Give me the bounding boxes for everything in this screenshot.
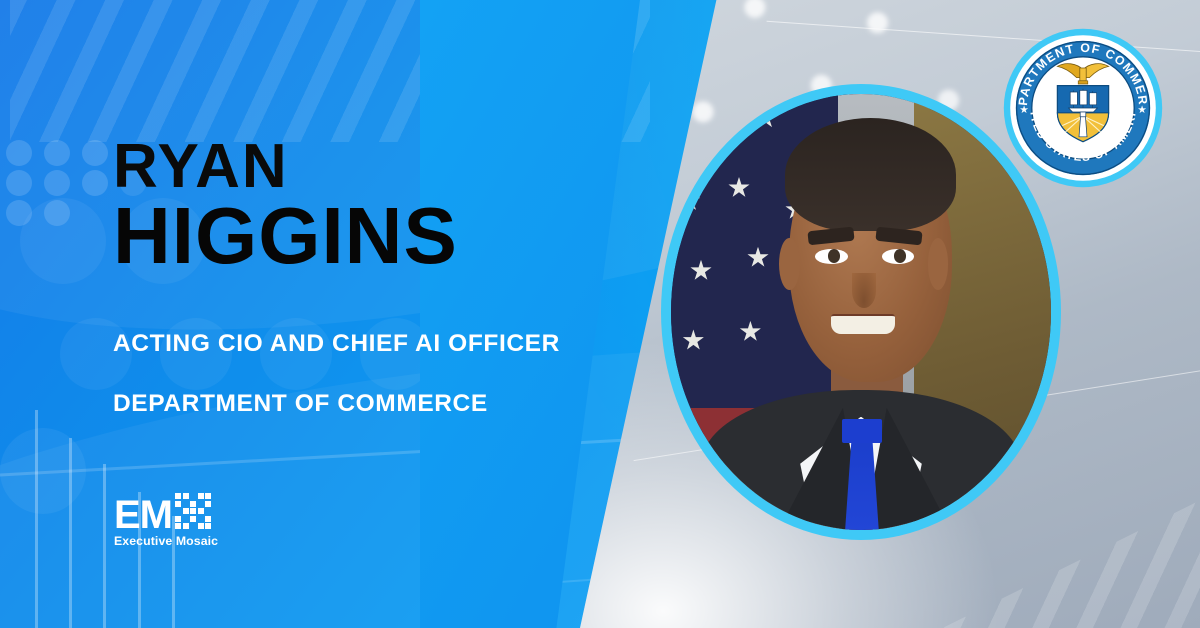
organization-name: DEPARTMENT OF COMMERCE	[113, 390, 633, 418]
logo-monogram: EM	[114, 499, 172, 531]
job-title: ACTING CIO AND CHIEF AI OFFICER	[113, 330, 633, 358]
text-block: RYAN HIGGINS ACTING CIO AND CHIEF AI OFF…	[113, 138, 633, 418]
first-name: RYAN	[113, 138, 633, 196]
mosaic-grid-icon	[175, 493, 211, 529]
department-of-commerce-seal: DEPARTMENT OF COMMERCE UNITED STATES OF …	[1003, 28, 1163, 188]
portrait-eye-right	[882, 249, 914, 264]
portrait-smile	[831, 314, 896, 334]
portrait-tie-knot	[842, 419, 882, 443]
seal-star-right: ★	[1137, 105, 1146, 116]
seal-star-left: ★	[1019, 105, 1028, 116]
portrait-eye-left	[815, 249, 847, 264]
logo-wordmark: Executive Mosaic	[114, 534, 218, 548]
portrait-photo	[661, 84, 1061, 540]
portrait-nose	[852, 273, 877, 308]
last-name: HIGGINS	[113, 198, 633, 274]
portrait-hair	[785, 118, 956, 231]
profile-graphic-card: RYAN HIGGINS ACTING CIO AND CHIEF AI OFF…	[0, 0, 1200, 628]
executive-mosaic-logo[interactable]: EM Executive Mosaic	[114, 493, 218, 548]
